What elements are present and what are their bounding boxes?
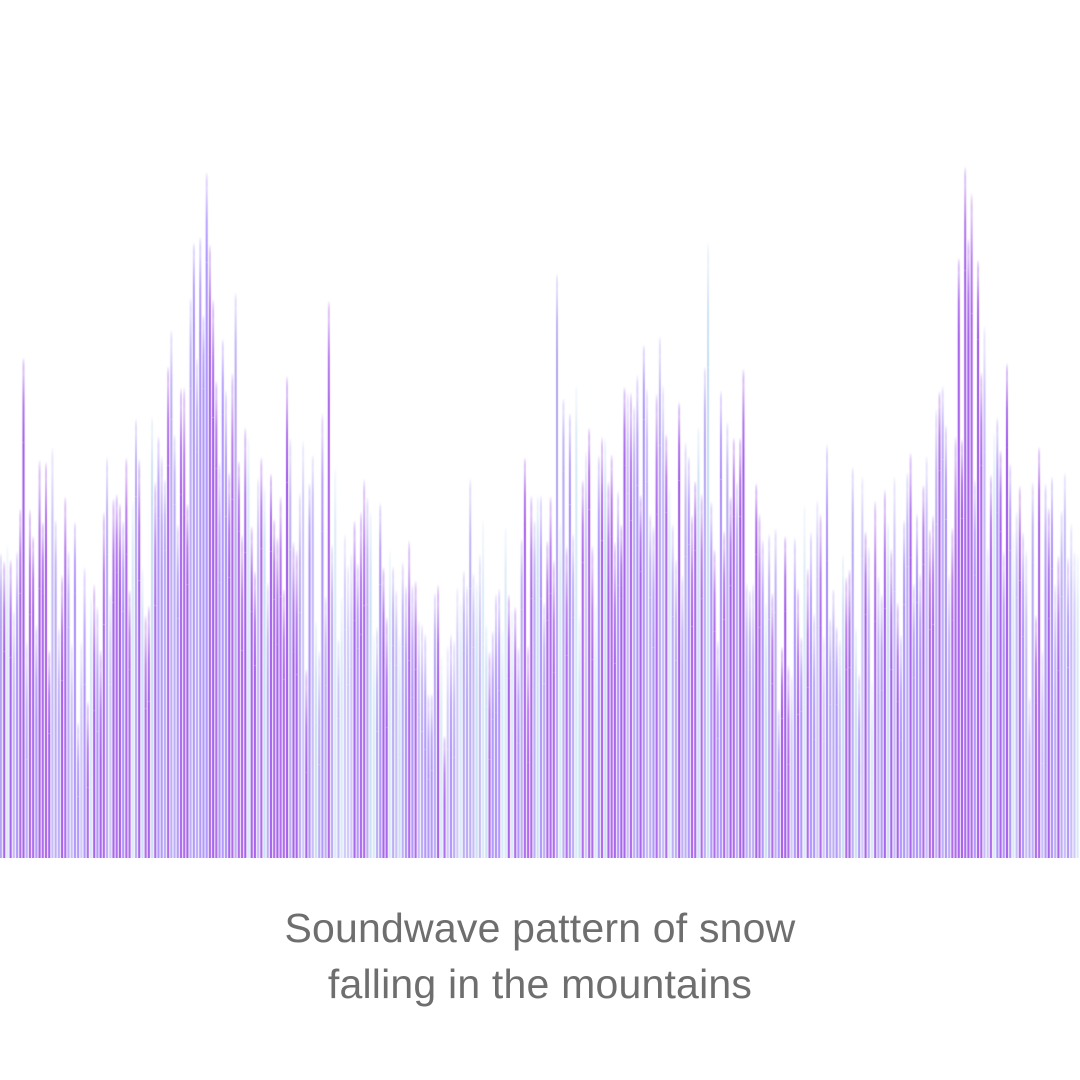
waveform-plot: [0, 0, 1080, 858]
caption-line-1: Soundwave pattern of snow: [0, 900, 1080, 956]
waveform-canvas: [0, 0, 1080, 858]
soundwave-poster: Soundwave pattern of snow falling in the…: [0, 0, 1080, 1080]
caption-line-2: falling in the mountains: [0, 956, 1080, 1012]
caption: Soundwave pattern of snow falling in the…: [0, 900, 1080, 1012]
